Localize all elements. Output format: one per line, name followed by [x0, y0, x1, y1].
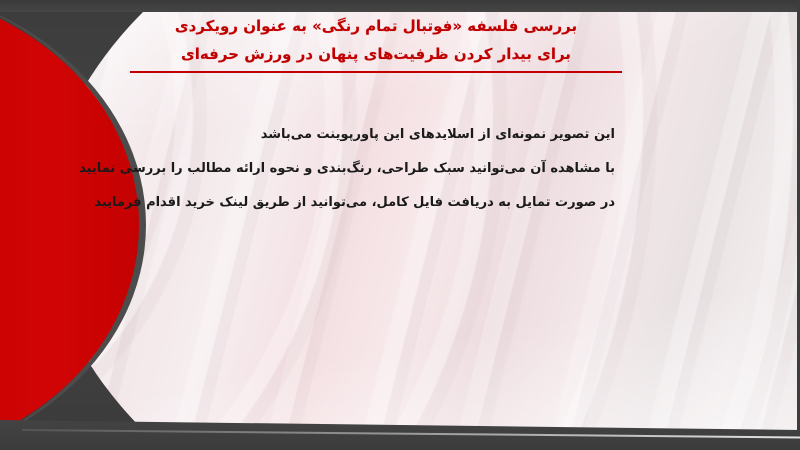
slide-body-text: این تصویر نمونه‌ای از اسلایدهای این پاور… — [79, 118, 615, 220]
body-line-1: این تصویر نمونه‌ای از اسلایدهای این پاور… — [79, 118, 615, 152]
body-line-3: در صورت تمایل به دریافت فایل کامل، می‌تو… — [79, 186, 615, 220]
top-frame-band — [0, 0, 800, 12]
panel-sheen-decor — [26, 10, 800, 432]
slide-content-panel — [26, 10, 800, 432]
title-line-1: بررسی فلسفه «فوتبال تمام رنگی» به عنوان … — [120, 12, 632, 40]
presentation-slide: بررسی فلسفه «فوتبال تمام رنگی» به عنوان … — [0, 0, 800, 450]
title-underline — [130, 71, 622, 73]
title-line-2: برای بیدار کردن ظرفیت‌های پنهان در ورزش … — [120, 40, 632, 68]
slide-title: بررسی فلسفه «فوتبال تمام رنگی» به عنوان … — [120, 12, 632, 73]
panel-diagonal-bands-decor — [26, 10, 800, 432]
panel-arc-bands-decor — [26, 10, 800, 432]
body-line-2: با مشاهده آن می‌توانید سبک طراحی، رنگ‌بن… — [79, 152, 615, 186]
